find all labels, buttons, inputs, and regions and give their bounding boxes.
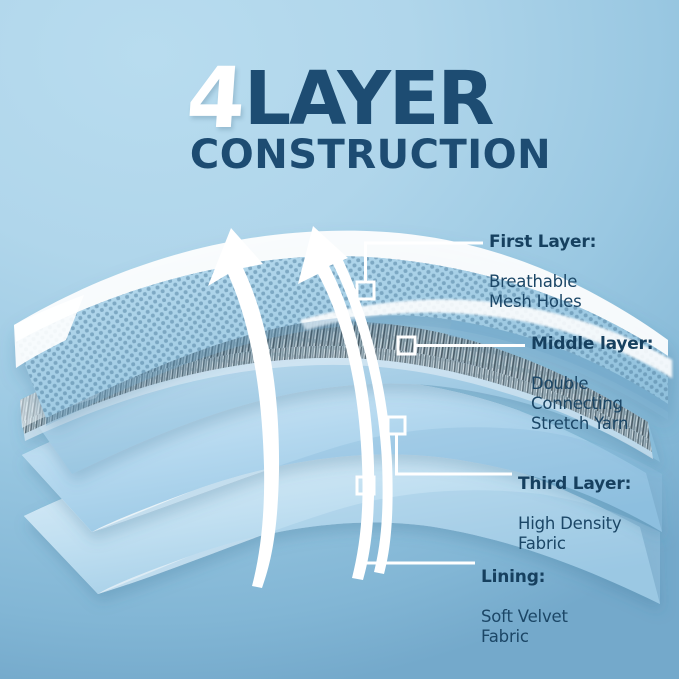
callout-label-lining: Lining: Soft Velvet Fabric: [481, 547, 568, 667]
callout-heading-first: First Layer:: [489, 232, 596, 253]
infographic-canvas: 4 LAYER CONSTRUCTION: [0, 0, 679, 679]
callout-marker-third[interactable]: [388, 417, 405, 434]
callout-marker-lining[interactable]: [357, 477, 374, 494]
callout-heading-lining: Lining:: [481, 567, 568, 588]
callout-heading-middle: Middle layer:: [531, 334, 653, 355]
callout-line-middle: [398, 337, 525, 354]
callout-marker-middle[interactable]: [398, 337, 415, 354]
callout-marker-first[interactable]: [357, 282, 374, 299]
callout-body-middle: Double Connecting Stretch Yarn: [531, 374, 653, 434]
callout-heading-third: Third Layer:: [518, 474, 631, 495]
callout-body-first: Breathable Mesh Holes: [489, 272, 596, 312]
callout-line-third: [388, 417, 512, 474]
callout-body-lining: Soft Velvet Fabric: [481, 607, 568, 647]
callout-line-lining: [357, 477, 475, 563]
callout-line-first: [357, 243, 483, 299]
callout-label-middle: Middle layer: Double Connecting Stretch …: [531, 314, 653, 454]
